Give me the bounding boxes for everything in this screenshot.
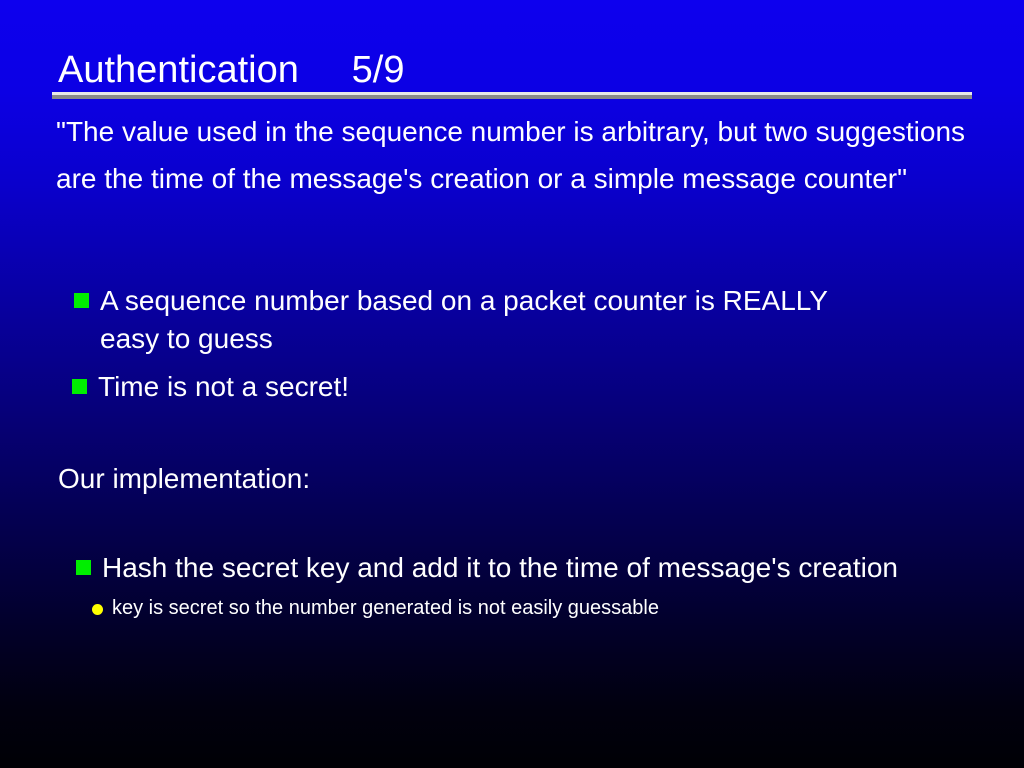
list-item-label: Time is not a secret! <box>98 368 349 406</box>
list-item: Hash the secret key and add it to the ti… <box>76 549 986 587</box>
dot-bullet-icon <box>92 604 103 615</box>
presentation-slide: Authentication 5/9 "The value used in th… <box>0 0 1024 768</box>
square-bullet-icon <box>76 560 91 575</box>
section-label: Our implementation: <box>58 460 310 498</box>
title-divider <box>52 92 972 99</box>
page-title: Authentication 5/9 <box>58 48 404 92</box>
list-item: A sequence number based on a packet coun… <box>74 282 974 358</box>
sub-list-item-label: key is secret so the number generated is… <box>112 595 659 622</box>
list-item-label: A sequence number based on a packet coun… <box>100 282 845 358</box>
list-item-label: Hash the secret key and add it to the ti… <box>102 549 917 587</box>
quotation-paragraph: "The value used in the sequence number i… <box>56 108 986 202</box>
square-bullet-icon <box>74 293 89 308</box>
square-bullet-icon <box>72 379 87 394</box>
list-item: Time is not a secret! <box>72 368 974 406</box>
slide-title-block: Authentication 5/9 <box>52 48 972 102</box>
bullet-list-implementation: Hash the secret key and add it to the ti… <box>76 549 986 622</box>
title-divider-shadow <box>52 95 972 99</box>
bullet-list-primary: A sequence number based on a packet coun… <box>74 282 974 406</box>
sub-list-item: key is secret so the number generated is… <box>92 595 986 622</box>
